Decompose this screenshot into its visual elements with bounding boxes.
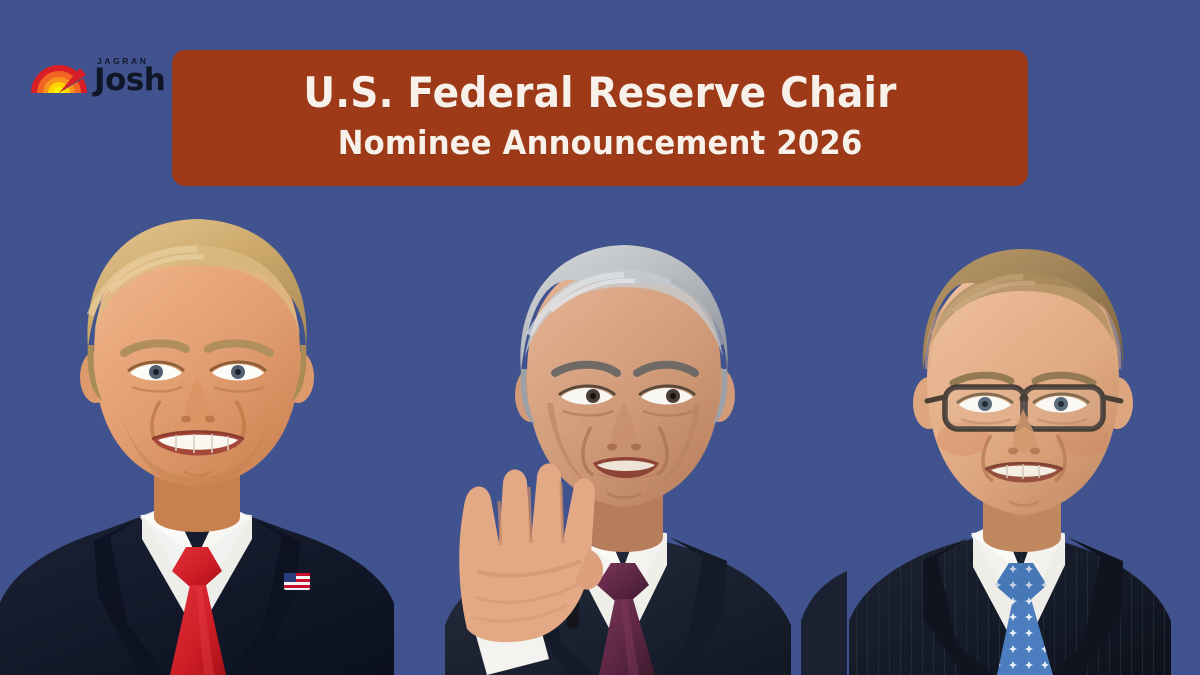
jagran-josh-logo[interactable]: JAGRAN Josh (30, 34, 180, 96)
portrait-jerome-powell (415, 225, 855, 675)
logo-josh-text: Josh (94, 66, 165, 95)
banner-title-line1: U.S. Federal Reserve Chair (303, 71, 896, 116)
us-flag-lapel-pin (284, 573, 310, 590)
portrait-donald-trump (0, 195, 460, 675)
poster-canvas: JAGRAN Josh U.S. Federal Reserve Chair N… (0, 0, 1200, 675)
portrait-kevin-hassett (845, 225, 1200, 675)
banner-title-line2: Nominee Announcement 2026 (338, 125, 863, 161)
logo-wordmark: JAGRAN Josh (94, 57, 165, 96)
sunburst-icon (30, 62, 88, 96)
title-banner: U.S. Federal Reserve Chair Nominee Annou… (172, 50, 1028, 186)
